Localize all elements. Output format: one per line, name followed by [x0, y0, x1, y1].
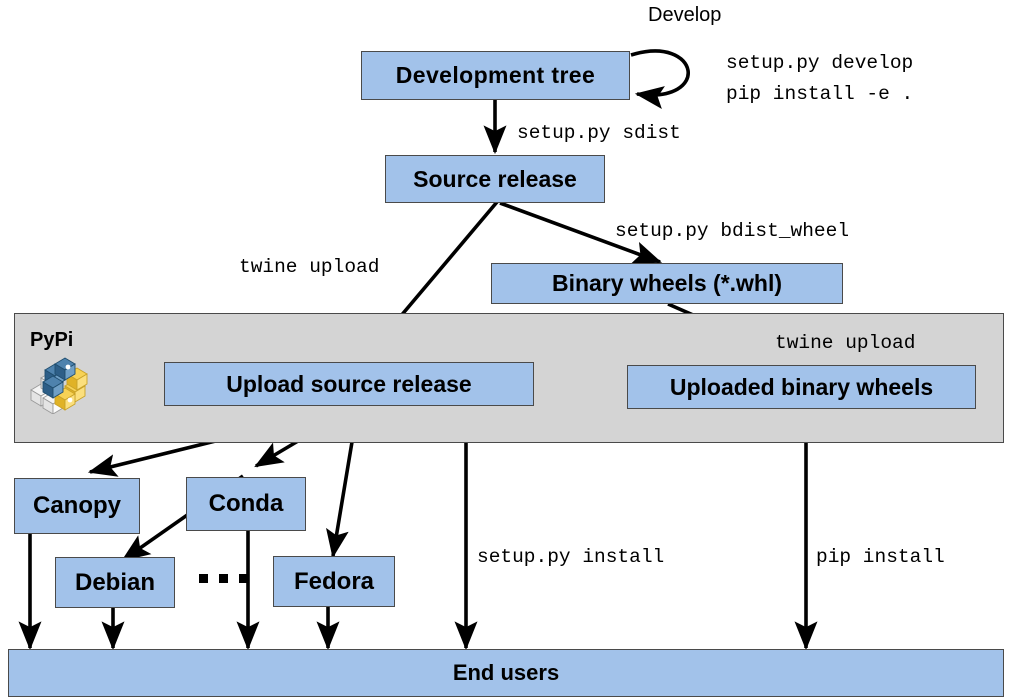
label-setup-py-install: setup.py install: [477, 546, 664, 568]
node-binary-wheels[interactable]: Binary wheels (*.whl): [491, 263, 843, 304]
label-pip-install: pip install: [816, 546, 945, 568]
node-upload-source-release[interactable]: Upload source release: [164, 362, 534, 406]
node-source-release[interactable]: Source release: [385, 155, 605, 203]
label-develop: Develop: [648, 4, 721, 27]
node-canopy[interactable]: Canopy: [14, 478, 140, 534]
node-debian[interactable]: Debian: [55, 557, 175, 608]
ellipsis-dot: [199, 574, 208, 583]
label-setup-py-sdist: setup.py sdist: [517, 122, 681, 144]
ellipsis-dot: [219, 574, 228, 583]
label-setup-py-bdist-wheel: setup.py bdist_wheel: [615, 220, 849, 242]
pypi-logo: [27, 356, 93, 414]
node-uploaded-binary-wheels[interactable]: Uploaded binary wheels: [627, 365, 976, 409]
label-pip-install-editable: pip install -e .: [726, 83, 913, 105]
node-end-users[interactable]: End users: [8, 649, 1004, 697]
ellipsis-more-distros: [199, 574, 248, 583]
ellipsis-dot: [239, 574, 248, 583]
node-fedora[interactable]: Fedora: [273, 556, 395, 607]
label-setup-py-develop: setup.py develop: [726, 52, 913, 74]
packaging-flow-diagram: PyPi: [0, 0, 1009, 698]
label-twine-upload-source: twine upload: [239, 256, 379, 278]
arrow-develop-loop: [631, 51, 688, 95]
node-conda[interactable]: Conda: [186, 477, 306, 531]
pypi-panel-title: PyPi: [30, 329, 73, 352]
label-twine-upload-wheels: twine upload: [775, 332, 915, 354]
node-development-tree[interactable]: Development tree: [361, 51, 630, 100]
